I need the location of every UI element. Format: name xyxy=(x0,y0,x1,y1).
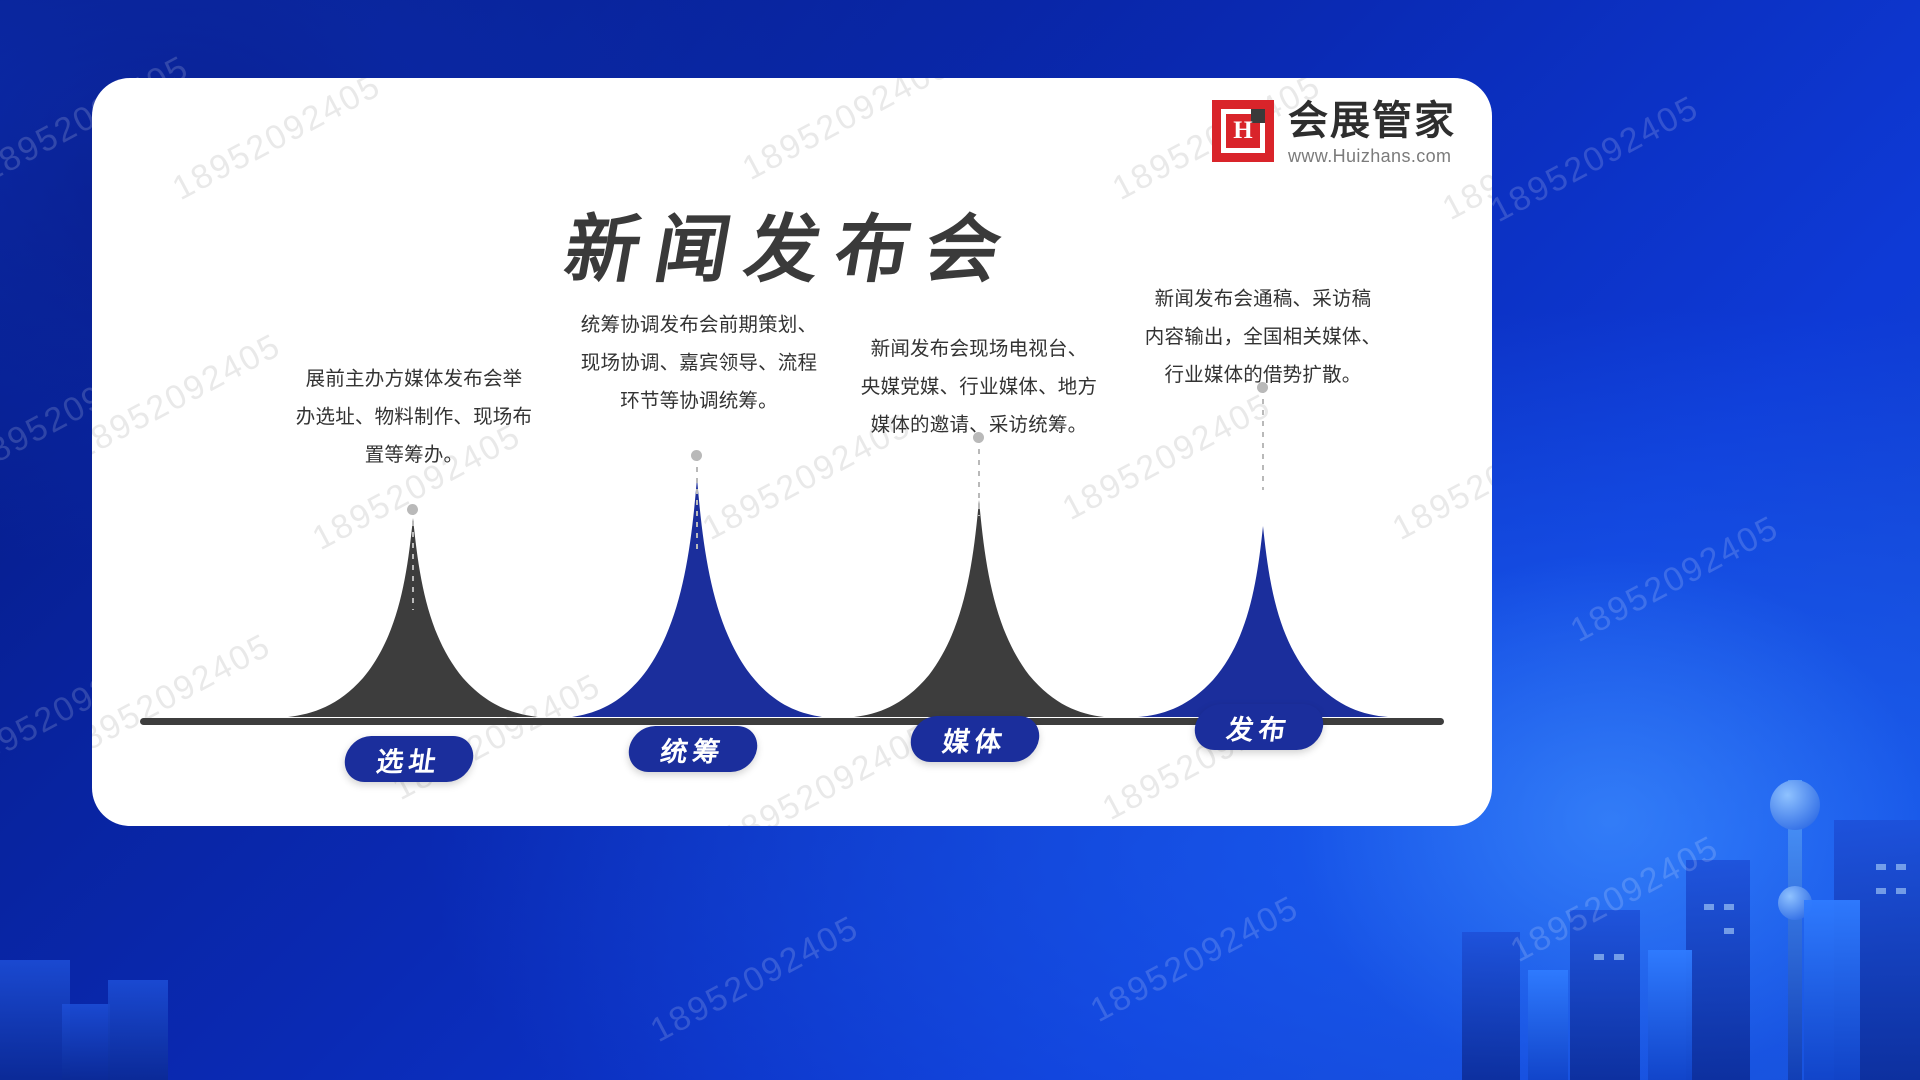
desc-line: 新闻发布会现场电视台、 xyxy=(836,330,1122,368)
step-label-text: 统筹 xyxy=(658,730,727,769)
step-label-text: 发布 xyxy=(1224,708,1293,747)
step-label-text: 媒体 xyxy=(940,720,1009,759)
content-card: 18952092405 18952092405 18952092405 1895… xyxy=(92,78,1492,826)
step-description-3: 新闻发布会现场电视台、 央媒党媒、行业媒体、地方 媒体的邀请、采访统筹。 xyxy=(836,330,1122,444)
step-description-2: 统筹协调发布会前期策划、 现场协调、嘉宾领导、流程 环节等协调统筹。 xyxy=(556,306,842,420)
step-label-pill-1[interactable]: 选址 xyxy=(342,736,476,782)
desc-line: 环节等协调统筹。 xyxy=(556,382,842,420)
desc-line: 媒体的邀请、采访统筹。 xyxy=(836,406,1122,444)
desc-line: 新闻发布会通稿、采访稿 xyxy=(1120,280,1406,318)
step-description-1: 展前主办方媒体发布会举 办选址、物料制作、现场布 置等筹办。 xyxy=(274,360,554,474)
desc-line: 统筹协调发布会前期策划、 xyxy=(556,306,842,344)
desc-line: 办选址、物料制作、现场布 xyxy=(274,398,554,436)
slide-canvas: 18952092405 18952092405 18952092405 1895… xyxy=(0,0,1920,1080)
peak-shape-4 xyxy=(1138,526,1388,718)
desc-line: 央媒党媒、行业媒体、地方 xyxy=(836,368,1122,406)
connector-dot-1 xyxy=(407,504,418,515)
desc-line: 内容输出，全国相关媒体、 xyxy=(1120,318,1406,356)
desc-line: 置等筹办。 xyxy=(274,436,554,474)
connector-line-2 xyxy=(696,456,698,554)
peak-shape-3 xyxy=(854,500,1104,718)
step-label-pill-2[interactable]: 统筹 xyxy=(626,726,760,772)
desc-line: 展前主办方媒体发布会举 xyxy=(274,360,554,398)
process-diagram: 展前主办方媒体发布会举 办选址、物料制作、现场布 置等筹办。 统筹协调发布会前期… xyxy=(92,78,1492,826)
step-label-pill-4[interactable]: 发布 xyxy=(1192,704,1326,750)
step-label-pill-3[interactable]: 媒体 xyxy=(908,716,1042,762)
desc-line: 行业媒体的借势扩散。 xyxy=(1120,356,1406,394)
step-label-text: 选址 xyxy=(374,740,443,779)
desc-line: 现场协调、嘉宾领导、流程 xyxy=(556,344,842,382)
step-description-4: 新闻发布会通稿、采访稿 内容输出，全国相关媒体、 行业媒体的借势扩散。 xyxy=(1120,280,1406,394)
city-skyline-left xyxy=(0,900,230,1080)
connector-dot-2 xyxy=(691,450,702,461)
connector-line-4 xyxy=(1262,388,1264,490)
connector-line-3 xyxy=(978,438,980,516)
connector-line-1 xyxy=(412,510,414,610)
